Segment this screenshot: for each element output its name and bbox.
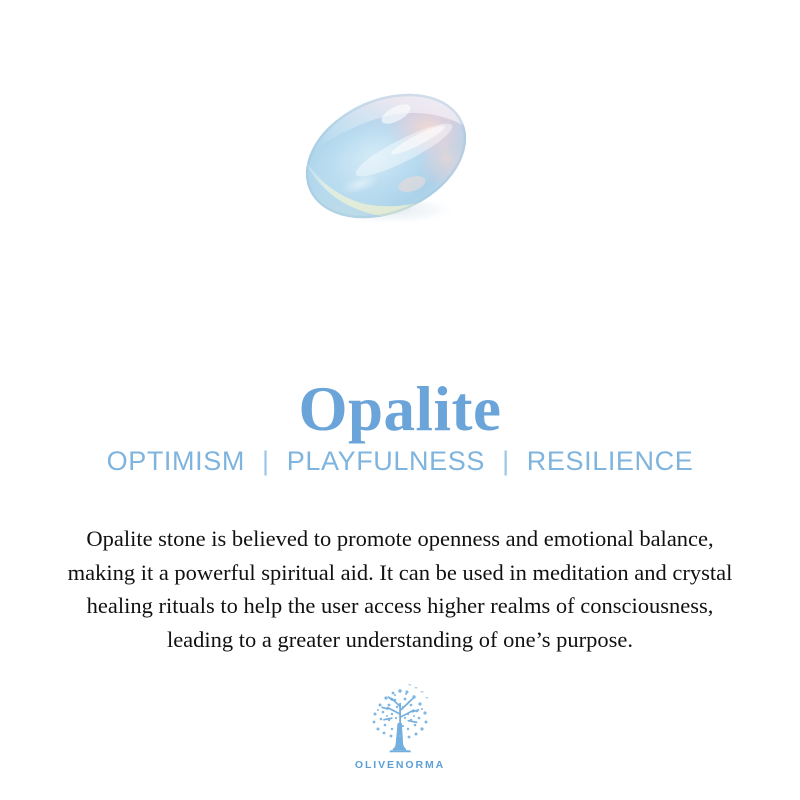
opalite-cabochon-gemstone — [300, 84, 472, 228]
tree-of-life-icon — [362, 683, 438, 757]
description-line: leading to a greater understanding of on… — [18, 623, 782, 657]
brand-wordmark: OLIVENORMA — [0, 759, 800, 771]
description-line: healing rituals to help the user access … — [18, 589, 782, 623]
description-line: Opalite stone is believed to promote ope… — [18, 522, 782, 556]
keyword-playfulness: PLAYFULNESS — [287, 446, 485, 476]
keyword-optimism: OPTIMISM — [107, 446, 245, 476]
brand-logo: OLIVENORMA — [0, 683, 800, 771]
keyword-separator: | — [253, 446, 279, 476]
opalite-info-card: Opalite OPTIMISM | PLAYFULNESS | RESILIE… — [0, 0, 800, 800]
hero-image-area — [0, 62, 800, 242]
page-title: Opalite — [0, 376, 800, 442]
description-paragraph: Opalite stone is believed to promote ope… — [18, 522, 782, 656]
keyword-list: OPTIMISM | PLAYFULNESS | RESILIENCE — [0, 446, 800, 477]
description-line: making it a powerful spiritual aid. It c… — [18, 556, 782, 590]
keyword-resilience: RESILIENCE — [527, 446, 694, 476]
keyword-separator: | — [493, 446, 519, 476]
